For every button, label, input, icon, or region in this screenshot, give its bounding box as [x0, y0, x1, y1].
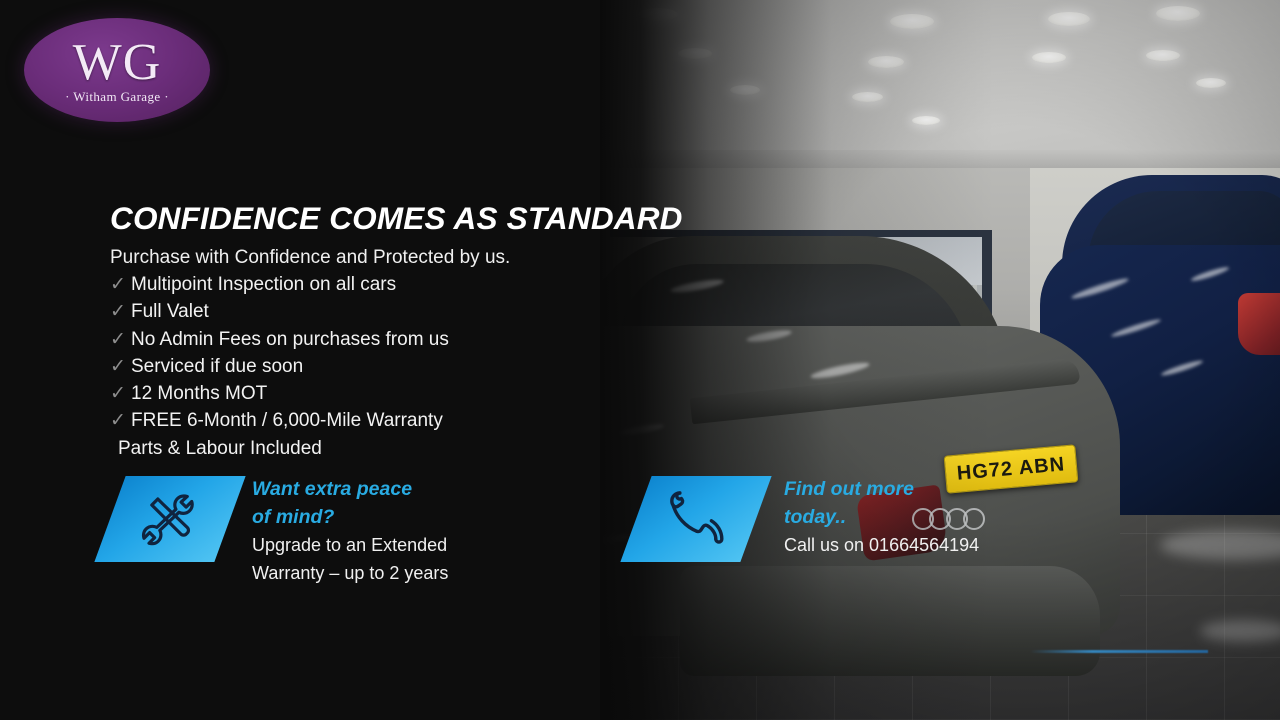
check-icon: ✓ [110, 411, 131, 430]
list-item-label: FREE 6-Month / 6,000-Mile Warranty [131, 410, 443, 432]
promo-contact-us[interactable]: Find out more today.. Call us on 0166456… [636, 476, 979, 562]
promo-heading-line2: today.. [784, 504, 979, 532]
promo-icon-tile [94, 476, 245, 562]
promo-extended-warranty[interactable]: Want extra peace of mind? Upgrade to an … [110, 476, 448, 588]
benefits-list: ✓ Multipoint Inspection on all cars ✓ Fu… [110, 274, 449, 465]
list-item: Parts & Labour Included [110, 438, 449, 465]
list-item-label: 12 Months MOT [131, 383, 267, 405]
logo-initials: WG [73, 39, 162, 87]
promo-banner: HG72 ABN WG · Witham Garage · CONFIDENCE… [0, 0, 1280, 720]
list-item: ✓ Serviced if due soon [110, 356, 449, 383]
photo-fade-overlay [600, 0, 1280, 720]
subheading: Purchase with Confidence and Protected b… [110, 247, 510, 269]
promo-body-line1: Upgrade to an Extended [252, 531, 448, 559]
promo-heading-line1: Find out more [784, 476, 979, 504]
list-item-label: Multipoint Inspection on all cars [131, 274, 396, 296]
list-item: ✓ 12 Months MOT [110, 383, 449, 410]
list-item-label: Parts & Labour Included [118, 438, 322, 460]
tools-wrench-screwdriver-icon [140, 488, 200, 551]
list-item-label: Full Valet [131, 301, 209, 323]
logo-name: · Witham Garage · [65, 89, 169, 105]
logo-witham-garage[interactable]: WG · Witham Garage · [24, 18, 210, 122]
promo-text: Find out more today.. Call us on 0166456… [784, 476, 979, 559]
check-icon: ✓ [110, 357, 131, 376]
check-icon: ✓ [110, 330, 131, 349]
check-icon: ✓ [110, 275, 131, 294]
check-icon: ✓ [110, 302, 131, 321]
list-item-label: No Admin Fees on purchases from us [131, 329, 449, 351]
promo-text: Want extra peace of mind? Upgrade to an … [252, 476, 448, 588]
promo-body-line2: Warranty – up to 2 years [252, 559, 448, 587]
list-item: ✓ No Admin Fees on purchases from us [110, 329, 449, 356]
showroom-photo: HG72 ABN [600, 0, 1280, 720]
list-item-label: Serviced if due soon [131, 356, 303, 378]
promo-phone-label[interactable]: Call us on 01664564194 [784, 531, 979, 559]
list-item: ✓ Full Valet [110, 301, 449, 328]
phone-handset-icon [667, 489, 725, 550]
promo-heading-line1: Want extra peace [252, 476, 448, 504]
check-icon: ✓ [110, 384, 131, 403]
promo-heading-line2: of mind? [252, 504, 448, 532]
page-title: CONFIDENCE COMES AS STANDARD [110, 200, 683, 237]
list-item: ✓ FREE 6-Month / 6,000-Mile Warranty [110, 410, 449, 437]
promo-icon-tile [620, 476, 771, 562]
list-item: ✓ Multipoint Inspection on all cars [110, 274, 449, 301]
